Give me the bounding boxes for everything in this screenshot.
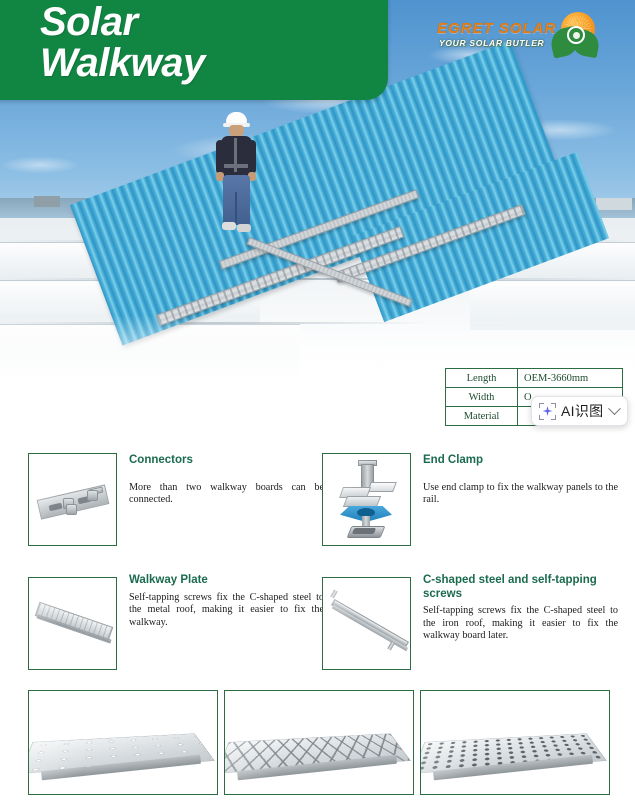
- product-gallery: [0, 690, 635, 795]
- ai-image-recognition-button[interactable]: AI识图: [531, 396, 628, 426]
- self-tapping-screw: [330, 590, 337, 599]
- feature-c-shaped-steel: C-shaped steel and self-tapping screws S…: [322, 574, 618, 684]
- worker-shoe-left: [222, 222, 236, 230]
- roof-seam: [0, 278, 635, 280]
- page-title: Solar Walkway: [40, 2, 205, 84]
- logo-center-dot: [573, 32, 580, 39]
- gallery-item-diamond-mesh-plate: [224, 690, 414, 795]
- self-tapping-screw: [387, 642, 394, 651]
- c-shaped-steel-thumbnail: [322, 577, 411, 670]
- clamp-wing-right: [367, 482, 397, 492]
- c-shaped-steel-bar-shadow: [332, 605, 408, 651]
- worker-shoe-right: [237, 224, 251, 232]
- logo-tagline: YOUR SOLAR BUTLER: [439, 38, 544, 48]
- title-banner: Solar Walkway: [0, 0, 388, 100]
- connector-bolt: [87, 490, 98, 501]
- feature-text: Use end clamp to fix the walkway panels …: [423, 482, 618, 507]
- connector-plate-thumbnail: [28, 453, 117, 546]
- worker-figure: [212, 112, 260, 237]
- chevron-down-icon[interactable]: [609, 402, 622, 415]
- worker-arm-left: [216, 140, 224, 174]
- worker-leg-split: [235, 192, 237, 225]
- ai-button-label: AI识图: [561, 401, 603, 421]
- mounting-rail-channel: [352, 528, 376, 534]
- feature-end-clamp: End Clamp Use end clamp to fix the walkw…: [322, 450, 618, 560]
- logo-company-name: EGRET SOLAR: [437, 20, 556, 37]
- ai-scan-sparkle-icon: [539, 403, 556, 420]
- feature-title: Walkway Plate: [129, 574, 324, 588]
- walkway-plate-thumbnail: [28, 577, 117, 670]
- feature-title: C-shaped steel and self-tapping screws: [423, 574, 618, 601]
- connector-bolt: [66, 504, 77, 515]
- horizon-building: [596, 198, 632, 210]
- end-clamp-thumbnail: [322, 453, 411, 546]
- feature-title: Connectors: [129, 454, 324, 468]
- spec-key-material: Material: [446, 407, 518, 426]
- feature-title: End Clamp: [423, 454, 618, 468]
- gallery-item-perforated-plate: [420, 690, 610, 795]
- feature-connectors: Connectors More than two walkway boards …: [28, 450, 324, 560]
- clamp-base: [343, 496, 381, 507]
- spec-key-width: Width: [446, 388, 518, 407]
- spec-key-length: Length: [446, 369, 518, 388]
- product-page: Solar Walkway EGRET SOLAR YOUR SOLAR BUT…: [0, 0, 635, 801]
- harness-strap-horizontal: [224, 164, 249, 168]
- table-row: Length OEM-3660mm: [446, 369, 623, 388]
- feature-walkway-plate: Walkway Plate Self-tapping screws fix th…: [28, 574, 324, 684]
- worker-arm-right: [248, 140, 256, 174]
- feature-text: Self-tapping screws fix the C-shaped ste…: [423, 605, 618, 643]
- horizon-building: [34, 196, 60, 207]
- gallery-item-embossed-plate: [28, 690, 218, 795]
- feature-text: Self-tapping screws fix the C-shaped ste…: [129, 592, 324, 630]
- feature-text: More than two walkway boards can be conn…: [129, 482, 324, 507]
- brand-logo: EGRET SOLAR YOUR SOLAR BUTLER: [437, 10, 627, 64]
- sun-leaf-logo-icon: [549, 12, 601, 62]
- feature-grid: Connectors More than two walkway boards …: [0, 450, 635, 685]
- spec-value-length: OEM-3660mm: [518, 369, 623, 388]
